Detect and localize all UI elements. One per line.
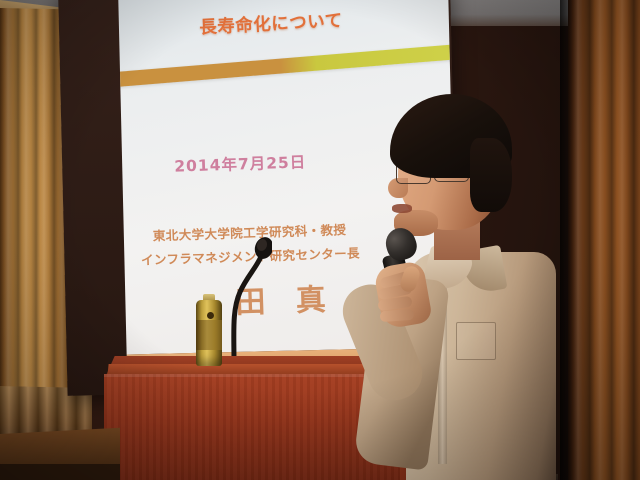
slide-title-line1: 東北地方のコンクリート構造物の — [148, 0, 456, 2]
speaker-figure — [372, 86, 572, 480]
bottle-label — [196, 320, 222, 350]
photo-scene: 東北地方のコンクリート構造物の 長寿命化について 2014年7月25日 東北大学… — [0, 0, 640, 480]
speaker-finger — [380, 309, 415, 322]
right-curtain — [568, 0, 640, 480]
stage-floor-shadow — [0, 464, 120, 480]
speaker-mouth — [392, 204, 412, 213]
slide-title-line2: 長寿命化について — [199, 0, 457, 39]
speaker-hair-side — [470, 138, 512, 212]
bottle-logo-icon — [207, 312, 214, 319]
shirt-pocket — [456, 322, 496, 360]
slide-accent-bar — [118, 43, 457, 87]
